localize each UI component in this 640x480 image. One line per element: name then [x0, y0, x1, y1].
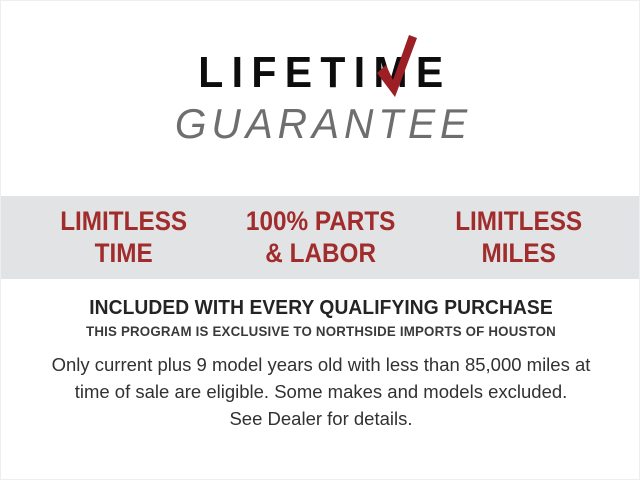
headline: INCLUDED WITH EVERY QUALIFYING PURCHASE [14, 297, 628, 320]
benefits-banner: LIMITLESS TIME 100% PARTS & LABOR LIMITL… [1, 196, 640, 279]
benefit-line-2: TIME [35, 238, 213, 269]
disclaimer-text: Only current plus 9 model years old with… [33, 352, 609, 432]
disclaimer-line-1: Only current plus 9 model years old with… [33, 352, 609, 379]
logo-lifetime-text: LIFETIME [190, 51, 452, 95]
logo-block: LIFETIME GUARANTEE [1, 51, 640, 145]
benefit-column-time: LIMITLESS TIME [35, 206, 213, 269]
logo-guarantee-text: GUARANTEE [11, 103, 632, 145]
subheadline: THIS PROGRAM IS EXCLUSIVE TO NORTHSIDE I… [17, 323, 625, 339]
lifetime-guarantee-ad: LIFETIME GUARANTEE LIMITLESS TIME 100% P… [0, 0, 640, 480]
benefit-column-parts-labor: 100% PARTS & LABOR [232, 206, 410, 269]
disclaimer-line-2: time of sale are eligible. Some makes an… [33, 379, 609, 406]
benefit-line-1: LIMITLESS [35, 206, 213, 237]
benefit-line-2: & LABOR [232, 238, 410, 269]
logo-lifetime-wrap: LIFETIME [180, 51, 461, 95]
benefit-column-miles: LIMITLESS MILES [430, 206, 608, 269]
benefit-line-1: 100% PARTS [232, 206, 410, 237]
disclaimer-line-3: See Dealer for details. [33, 406, 609, 433]
benefit-line-2: MILES [430, 238, 608, 269]
benefit-line-1: LIMITLESS [430, 206, 608, 237]
